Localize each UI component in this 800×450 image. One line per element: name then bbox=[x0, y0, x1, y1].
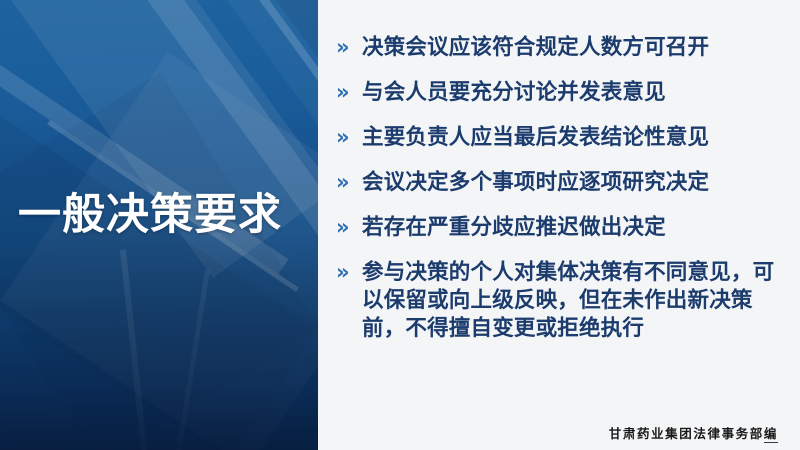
list-item-label: 参与决策的个人对集体决策有不同意见，可以保留或向上级反映，但在未作出新决策前，不… bbox=[362, 259, 792, 343]
list-item-label: 会议决定多个事项时应逐项研究决定 bbox=[362, 169, 792, 197]
list-item: » 决策会议应该符合规定人数方可召开 bbox=[336, 34, 792, 62]
list-item: » 主要负责人应当最后发表结论性意见 bbox=[336, 124, 792, 152]
list-item: » 与会人员要充分讨论并发表意见 bbox=[336, 79, 792, 107]
footer-credit-tail: 编 bbox=[764, 427, 778, 443]
list-item-label: 主要负责人应当最后发表结论性意见 bbox=[362, 124, 792, 152]
double-chevron-right-icon: » bbox=[336, 259, 362, 283]
list-item-label: 若存在严重分歧应推迟做出决定 bbox=[362, 214, 792, 242]
bullet-list: » 决策会议应该符合规定人数方可召开 » 与会人员要充分讨论并发表意见 » 主要… bbox=[336, 34, 792, 343]
double-chevron-right-icon: » bbox=[336, 124, 362, 148]
list-item-label: 决策会议应该符合规定人数方可召开 bbox=[362, 34, 792, 62]
double-chevron-right-icon: » bbox=[336, 79, 362, 103]
footer-credit-main: 甘肃药业集团法律事务部 bbox=[609, 427, 764, 441]
double-chevron-right-icon: » bbox=[336, 169, 362, 193]
title-panel: 一般决策要求 bbox=[0, 0, 318, 450]
list-item: » 参与决策的个人对集体决策有不同意见，可以保留或向上级反映，但在未作出新决策前… bbox=[336, 259, 792, 343]
list-item-label: 与会人员要充分讨论并发表意见 bbox=[362, 79, 792, 107]
page-title: 一般决策要求 bbox=[18, 192, 282, 240]
double-chevron-right-icon: » bbox=[336, 34, 362, 58]
double-chevron-right-icon: » bbox=[336, 214, 362, 238]
slide: 一般决策要求 » 决策会议应该符合规定人数方可召开 » 与会人员要充分讨论并发表… bbox=[0, 0, 800, 450]
footer-credit: 甘肃药业集团法律事务部编 bbox=[609, 423, 778, 442]
content-panel: » 决策会议应该符合规定人数方可召开 » 与会人员要充分讨论并发表意见 » 主要… bbox=[318, 0, 800, 450]
list-item: » 会议决定多个事项时应逐项研究决定 bbox=[336, 169, 792, 197]
list-item: » 若存在严重分歧应推迟做出决定 bbox=[336, 214, 792, 242]
